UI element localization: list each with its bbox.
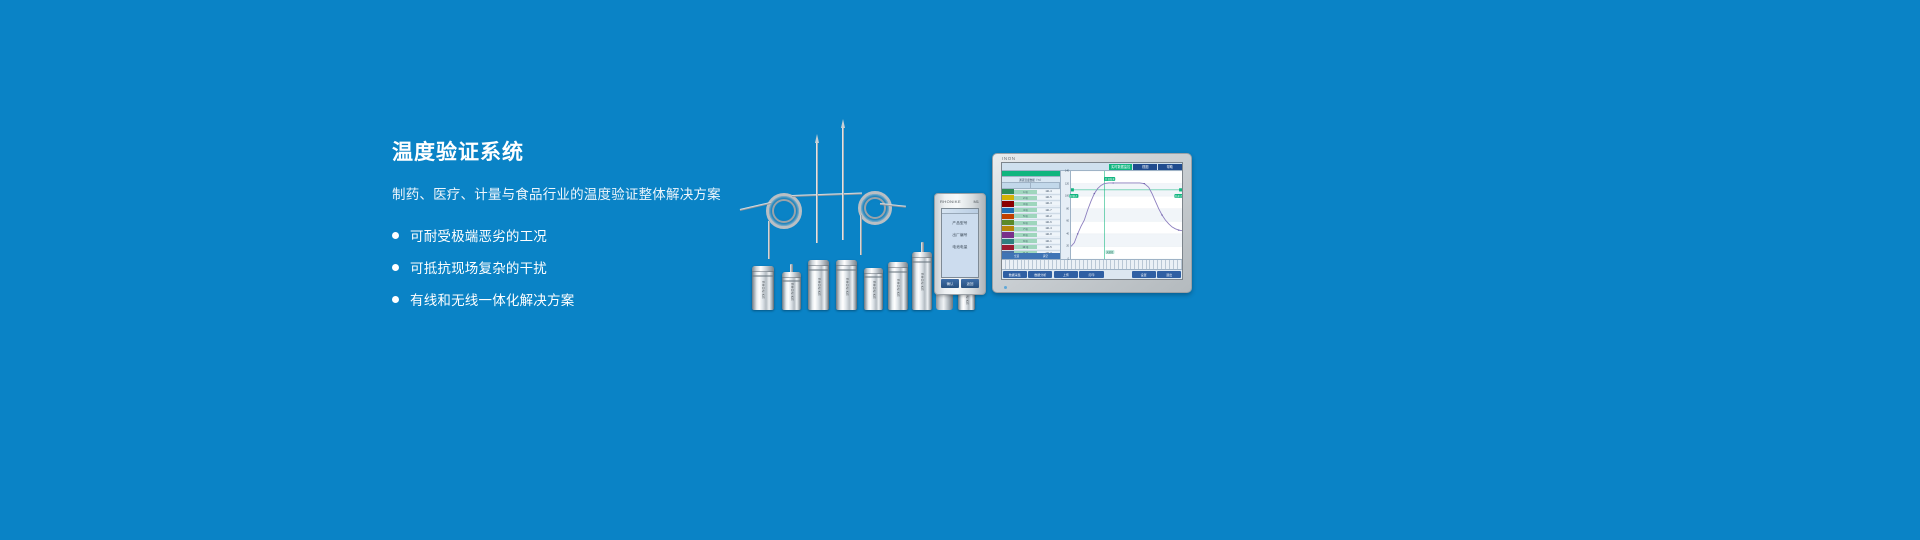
cell-channel: 9 号 [1014, 239, 1037, 243]
y-tick-label: 60 [1066, 220, 1069, 223]
channel-color-swatch [1002, 232, 1014, 237]
button-print[interactable]: 打印 [1079, 271, 1103, 279]
power-led-icon [1004, 286, 1007, 289]
cell-channel: 1 号 [1014, 190, 1037, 194]
channel-color-swatch [1002, 245, 1014, 250]
x-axis [1002, 259, 1182, 269]
handheld-reader[interactable]: RHONIKE M1 产品型号 出厂编号 电池电量 确认 返回 [934, 193, 986, 295]
handheld-back-button[interactable]: 返回 [961, 279, 979, 288]
handheld-confirm-button[interactable]: 确认 [941, 279, 959, 288]
column-value [1031, 183, 1060, 188]
logger-ring [836, 269, 857, 271]
channel-color-swatch [1002, 208, 1014, 213]
data-logger: RHONIKE [864, 268, 883, 310]
y-tick-label: 20 [1066, 245, 1069, 248]
cell-value: 121.4 [1037, 227, 1060, 230]
logger-cap [864, 268, 883, 274]
cell-channel: 5 号 [1014, 214, 1037, 218]
logger-label: RHONIKE [896, 279, 900, 297]
hero-banner: 温度验证系统 制药、医疗、计量与食品行业的温度验证整体解决方案 可耐受极端恶劣的… [0, 0, 1920, 540]
data-logger: RHONIKE [888, 262, 908, 310]
handheld-keypad: 确认 返回 [941, 279, 979, 288]
logger-ring [782, 280, 801, 282]
software-toolbar: 实时数据监控 视图 帮助 [1002, 163, 1182, 171]
plot-canvas: 升温结束 起始点 结束点 灭菌段 [1071, 171, 1182, 259]
cell-value: 121.3 [1037, 202, 1060, 205]
monitor-brand: INON [1002, 156, 1016, 161]
logger-cap [836, 260, 857, 266]
cell-channel: 3 号 [1014, 202, 1037, 206]
button-collect[interactable]: 数据采集 [1003, 271, 1027, 279]
handheld-screen: 产品型号 出厂编号 电池电量 [941, 208, 979, 278]
logger-label: RHONIKE [817, 278, 821, 296]
channel-color-swatch [1002, 239, 1014, 244]
sensor-wire [860, 215, 862, 255]
cell-value: 121.5 [1037, 246, 1060, 249]
logger-cap [888, 262, 908, 268]
channel-color-swatch [1002, 214, 1014, 219]
data-logger: RHONIKE [836, 260, 857, 310]
software-screen: 实时数据监控 视图 帮助 通道温度数据（℃） 1 号121.42 号121.53… [1001, 162, 1183, 280]
logger-label: RHONIKE [872, 281, 876, 299]
y-axis: 140120100806040200 [1061, 171, 1071, 259]
sensor-wire [768, 221, 770, 259]
chart-area: 140120100806040200 升温结束 起始点 结束点 灭菌段 [1061, 171, 1182, 259]
software-statusbar: 数据采集 数据分析 上传 打印 设置 退出 [1002, 269, 1182, 279]
handheld-row: 电池电量 [942, 245, 978, 250]
tab-help[interactable]: 帮助 [1158, 164, 1182, 170]
data-logger: RHONIKE [912, 252, 932, 310]
logger-cap [808, 260, 829, 266]
channel-color-swatch [1002, 226, 1014, 231]
column-channel [1002, 183, 1031, 188]
statusbar-gap [1104, 270, 1131, 279]
y-tick-label: 120 [1065, 182, 1069, 185]
data-logger: RHONIKE [752, 266, 774, 310]
cell-channel: 10 号 [1014, 245, 1037, 249]
tab-realtime[interactable]: 实时数据监控 [1109, 164, 1133, 170]
bullet-dot-icon [392, 232, 399, 239]
channel-color-swatch [1002, 189, 1014, 194]
bullet-dot-icon [392, 264, 399, 271]
product-photo-group: RHONIKE RHONIKE RHONIKE RHONIKE RHONIKE [730, 125, 1210, 310]
coiled-cable-icon [858, 191, 892, 225]
feature-label: 可耐受极端恶劣的工况 [410, 225, 547, 245]
button-analyze[interactable]: 数据分析 [1028, 271, 1052, 279]
data-logger: RHONIKE [782, 272, 801, 310]
y-tick-label: 40 [1066, 232, 1069, 235]
button-settings[interactable]: 设置 [1132, 271, 1156, 279]
handheld-titlebar [942, 209, 978, 214]
needle-probe [816, 143, 818, 243]
logger-ring [808, 269, 829, 271]
button-exit[interactable]: 退出 [1157, 271, 1181, 279]
annotation-end: 结束点 [1174, 194, 1183, 198]
x-tick [1178, 260, 1182, 269]
data-logger: RHONIKE [808, 260, 829, 310]
logger-ring [864, 276, 883, 278]
monitor-display: INON 实时数据监控 视图 帮助 通道温度数据（℃） [992, 153, 1192, 293]
cell-value: 121.1 [1037, 240, 1060, 243]
annotation-top: 升温结束 [1104, 177, 1116, 181]
cell-value: 121.5 [1037, 196, 1060, 199]
annotation-bottom: 灭菌段 [1105, 250, 1114, 254]
y-tick-label: 80 [1066, 207, 1069, 210]
channel-side-panel: 通道温度数据（℃） 1 号121.42 号121.53 号121.34 号121… [1002, 171, 1061, 259]
sensor-wire [792, 193, 862, 197]
cell-channel: 8 号 [1014, 233, 1037, 237]
channel-table-rows: 1 号121.42 号121.53 号121.34 号121.75 号121.2… [1002, 189, 1060, 253]
channel-color-swatch [1002, 201, 1014, 206]
logger-ring [752, 275, 774, 277]
logger-label: RHONIKE [920, 273, 924, 291]
annotation-start: 起始点 [1069, 194, 1078, 198]
channel-color-swatch [1002, 220, 1014, 225]
logger-label: RHONIKE [790, 283, 794, 301]
cell-value: 121.8 [1037, 233, 1060, 236]
chart-svg [1071, 171, 1182, 259]
cell-channel: 7 号 [1014, 227, 1037, 231]
cell-value: 121.2 [1037, 215, 1060, 218]
cell-value: 121.7 [1037, 209, 1060, 212]
coiled-cable-icon [766, 193, 802, 229]
handheld-model: M1 [973, 199, 979, 204]
feature-label: 有线和无线一体化解决方案 [410, 289, 574, 309]
channel-color-swatch [1002, 195, 1014, 200]
y-tick-label: 0 [1068, 258, 1069, 261]
logger-label: RHONIKE [761, 281, 765, 299]
logger-label: RHONIKE [845, 278, 849, 296]
logger-cap [782, 272, 801, 278]
tab-view[interactable]: 视图 [1133, 164, 1157, 170]
y-tick-label: 140 [1065, 170, 1069, 173]
logger-cap [752, 266, 774, 272]
needle-probe [842, 128, 844, 240]
bullet-dot-icon [392, 296, 399, 303]
cell-channel: 2 号 [1014, 196, 1037, 200]
logger-ring [888, 271, 908, 273]
button-upload[interactable]: 上传 [1054, 271, 1078, 279]
logger-cap [912, 252, 932, 258]
software-body: 通道温度数据（℃） 1 号121.42 号121.53 号121.34 号121… [1002, 171, 1182, 259]
cell-channel: 6 号 [1014, 221, 1037, 225]
feature-label: 可抵抗现场复杂的干扰 [410, 257, 547, 277]
toolbar-spacer [1002, 163, 1108, 170]
logger-ring [912, 261, 932, 263]
handheld-brand: RHONIKE [940, 199, 961, 204]
handheld-row: 产品型号 [942, 221, 978, 226]
cell-channel: 4 号 [1014, 208, 1037, 212]
handheld-row: 出厂编号 [942, 233, 978, 238]
cell-value: 121.4 [1037, 190, 1060, 193]
cell-value: 121.6 [1037, 221, 1060, 224]
